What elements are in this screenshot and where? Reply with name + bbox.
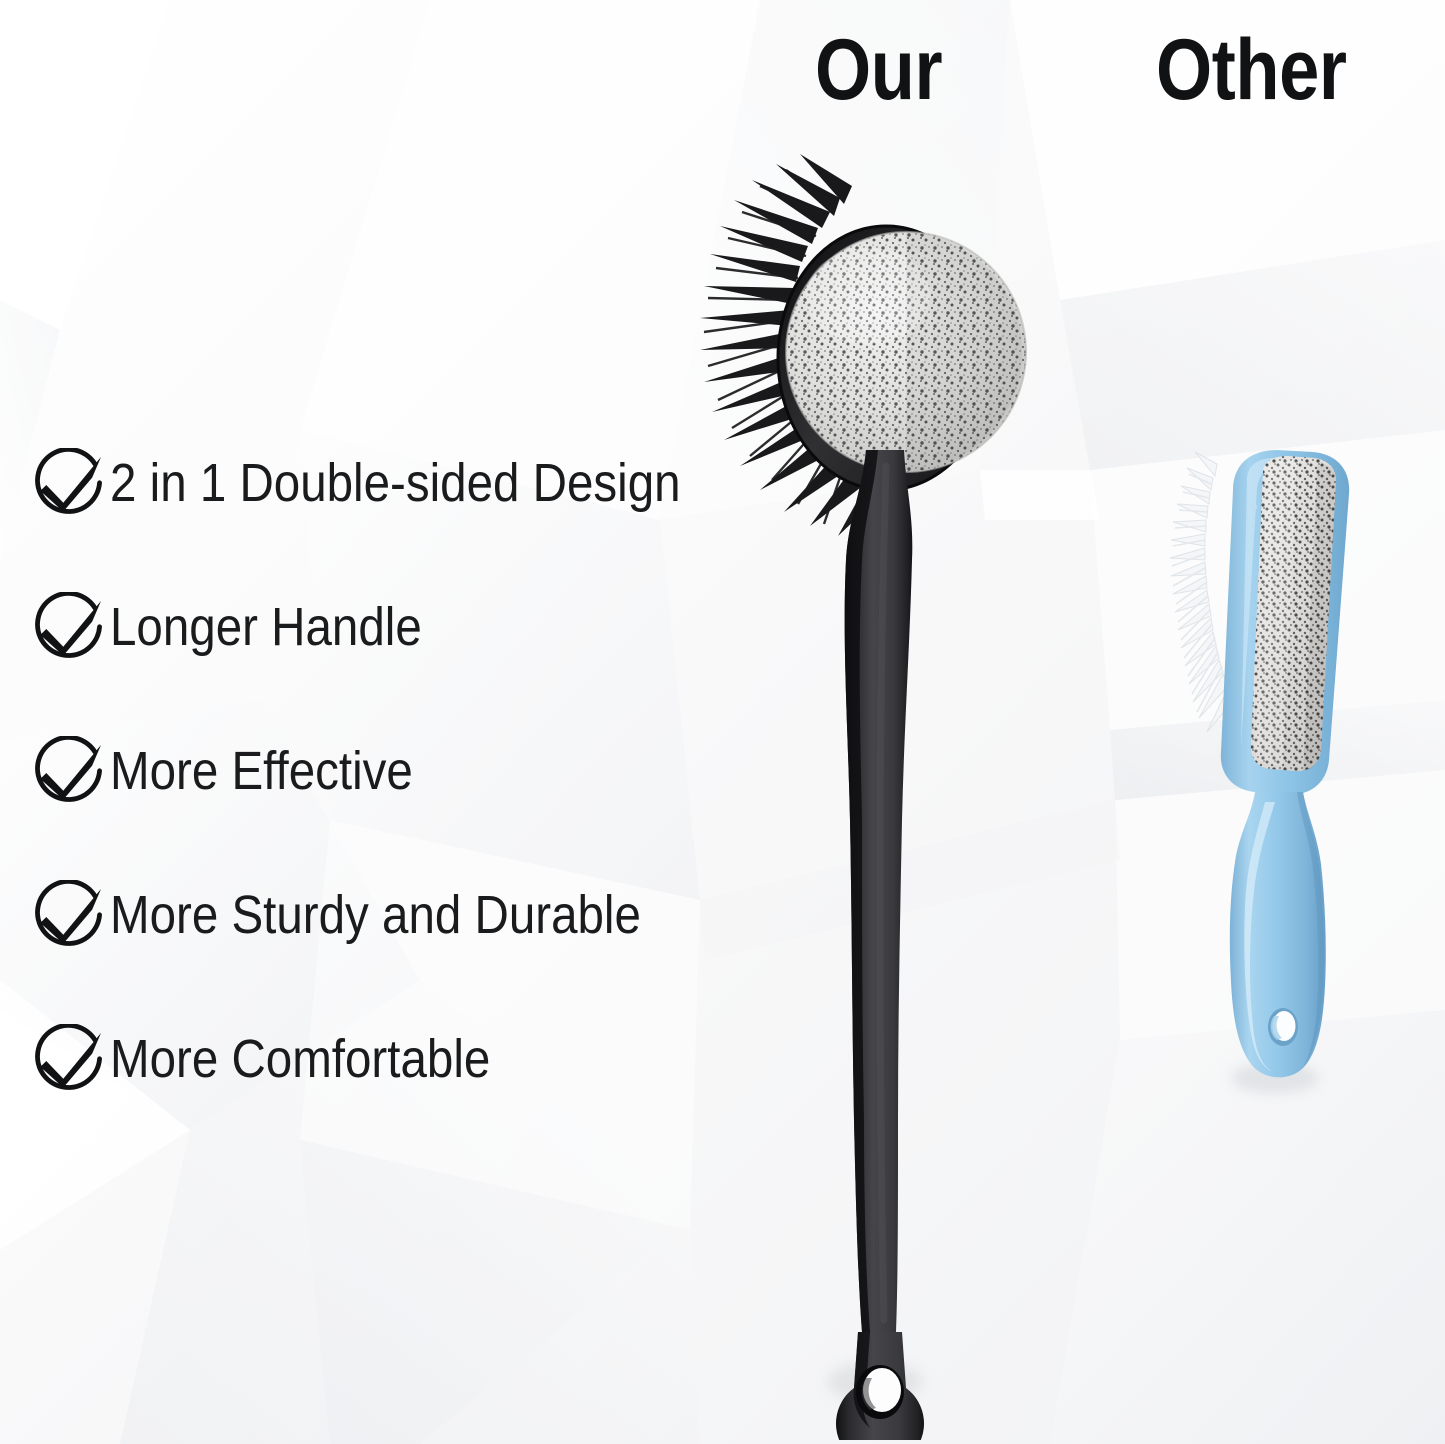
check-circle-icon bbox=[30, 592, 104, 666]
check-circle-icon bbox=[30, 880, 104, 954]
list-item-label: More Effective bbox=[110, 734, 413, 808]
product-comparison-infographic: Our Other 2 in 1 Double-sided Design Lon… bbox=[0, 0, 1445, 1444]
list-item-label: 2 in 1 Double-sided Design bbox=[110, 446, 681, 520]
check-circle-icon bbox=[30, 736, 104, 810]
list-item-label: Longer Handle bbox=[110, 590, 422, 664]
check-circle-icon bbox=[30, 448, 104, 522]
page-title-our: Our bbox=[815, 27, 942, 113]
product-image-other-brush bbox=[1155, 430, 1415, 1110]
check-circle-icon bbox=[30, 1024, 104, 1098]
list-item-label: More Sturdy and Durable bbox=[110, 878, 641, 952]
product-image-our-brush bbox=[690, 120, 1070, 1440]
page-title-other: Other bbox=[1156, 27, 1347, 113]
list-item-label: More Comfortable bbox=[110, 1022, 490, 1096]
